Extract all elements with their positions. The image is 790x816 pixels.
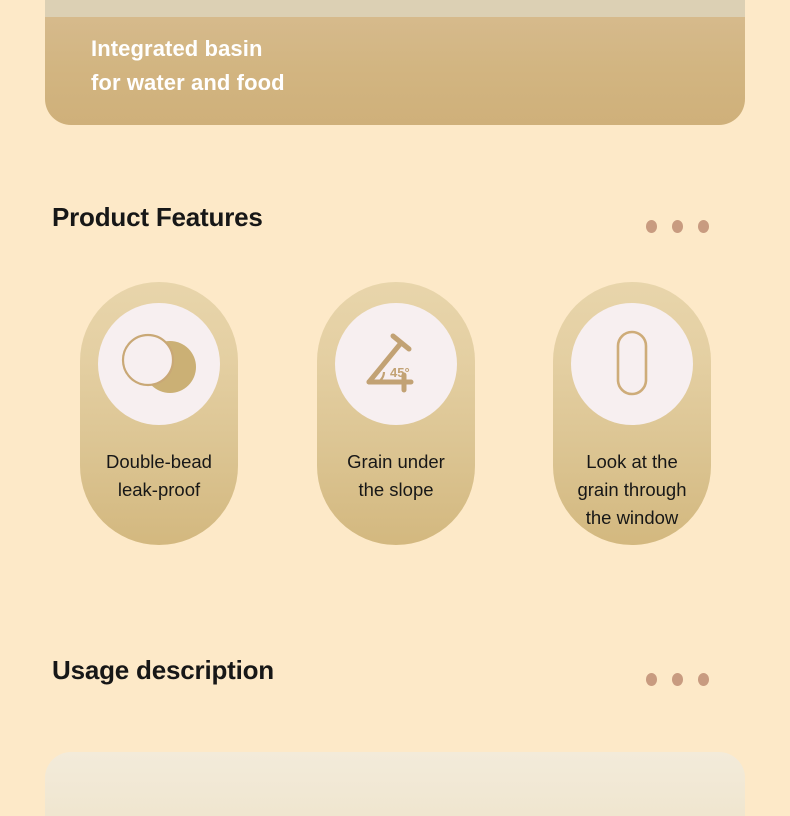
features-dots-decoration	[646, 220, 709, 233]
feature-icon-backdrop: 45°	[335, 303, 457, 425]
feature-card-grain-slope[interactable]: 45° Grain under the slope	[317, 282, 475, 545]
feature-icon-backdrop	[98, 303, 220, 425]
integrated-basin-banner: Integrated basin for water and food	[45, 0, 745, 125]
dot-icon	[646, 673, 657, 686]
angle-45-degree-icon: 45°	[335, 303, 457, 425]
viewing-window-icon	[571, 303, 693, 425]
usage-dots-decoration	[646, 673, 709, 686]
feature-card-double-bead[interactable]: Double-bead leak-proof	[80, 282, 238, 545]
angle-value-text: 45°	[390, 365, 410, 380]
dot-icon	[646, 220, 657, 233]
dot-icon	[698, 220, 709, 233]
feature-card-viewing-window[interactable]: Look at the grain through the window	[553, 282, 711, 545]
dot-icon	[698, 673, 709, 686]
feature-icon-backdrop	[571, 303, 693, 425]
feature-card-list: Double-bead leak-proof 45° Grain under t…	[80, 282, 711, 545]
double-bead-circles-icon	[98, 303, 220, 425]
usage-description-title: Usage description	[52, 655, 274, 686]
feature-card-label: Double-bead leak-proof	[56, 448, 262, 504]
usage-description-card	[45, 752, 745, 816]
product-features-section-header: Product Features	[0, 202, 790, 246]
banner-title: Integrated basin for water and food	[91, 32, 285, 100]
dot-icon	[672, 673, 683, 686]
feature-card-label: Look at the grain through the window	[529, 448, 735, 532]
usage-description-section-header: Usage description	[0, 655, 790, 699]
feature-card-label: Grain under the slope	[293, 448, 499, 504]
dot-icon	[672, 220, 683, 233]
product-features-title: Product Features	[52, 202, 263, 233]
